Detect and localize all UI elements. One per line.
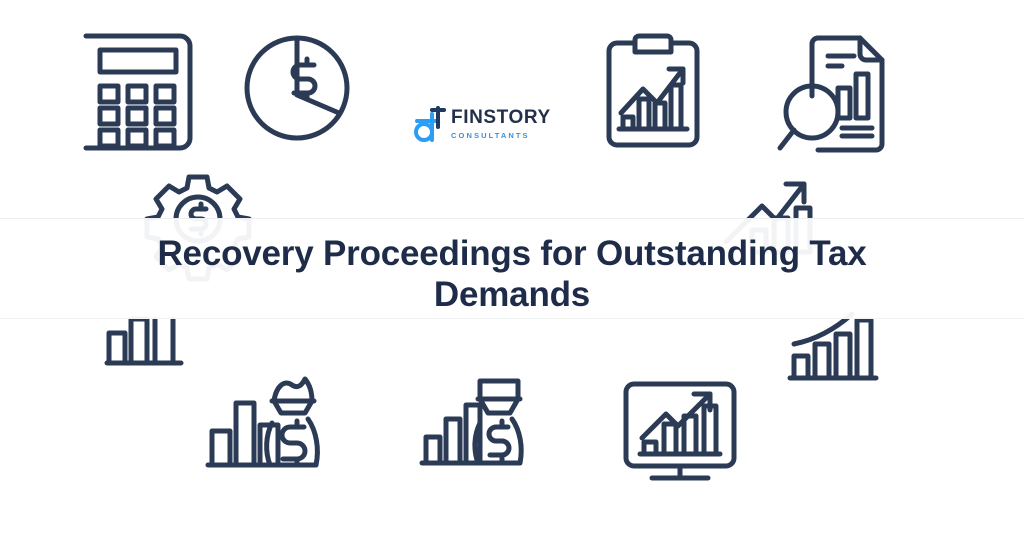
finstory-monogram-icon [413, 104, 447, 144]
banner-graphic: Recovery Proceedings for Outstanding Tax… [0, 0, 1024, 536]
monitor-growth-chart-icon [622, 380, 738, 486]
brand-name: FINSTORY [451, 108, 551, 128]
title-banner: Recovery Proceedings for Outstanding Tax… [0, 218, 1024, 319]
calculator-icon [76, 28, 198, 156]
brand-logo: FINSTORY CONSULTANTS [413, 96, 543, 152]
document-bar-chart-magnifier-icon [776, 30, 886, 156]
brand-tagline: CONSULTANTS [451, 130, 551, 141]
ascending-bars-curve-icon [788, 312, 878, 384]
clipboard-bar-chart-growth-icon [603, 31, 703, 153]
bar-chart-icon [107, 315, 181, 365]
pie-chart-dollar-icon [242, 33, 352, 143]
money-bag-ascending-bars-icon [420, 375, 532, 471]
page-title: Recovery Proceedings for Outstanding Tax… [0, 233, 1024, 315]
money-bag-bar-chart-icon [206, 375, 328, 473]
